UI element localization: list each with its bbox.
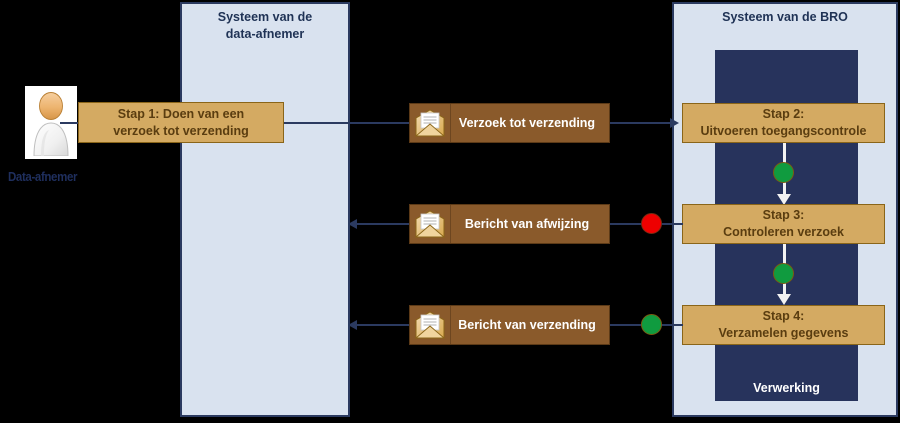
processing-label: Verwerking — [715, 381, 858, 395]
stap-1-box[interactable]: Stap 1: Doen van een verzoek tot verzend… — [78, 102, 284, 143]
connector-request-to-stap2 — [610, 122, 673, 124]
message-bericht-van-verzending[interactable]: Bericht van verzending — [409, 305, 610, 345]
arrow-delivery-to-consumer — [348, 320, 357, 330]
arrow-request-to-stap2 — [670, 118, 679, 128]
connector-stap1-to-request — [284, 122, 409, 124]
stap-4-box[interactable]: Stap 4: Verzamelen gegevens — [682, 305, 885, 345]
message-verzoek-tot-verzending[interactable]: Verzoek tot verzending — [409, 103, 610, 143]
process-diagram: Systeem van de data-afnemer Systeem van … — [0, 0, 900, 423]
stap-2-box[interactable]: Stap 2: Uitvoeren toegangscontrole — [682, 103, 885, 143]
stap-3-box[interactable]: Stap 3: Controleren verzoek — [682, 204, 885, 244]
message-label: Bericht van afwijzing — [451, 217, 609, 231]
lane-title-data-afnemer: Systeem van de data-afnemer — [180, 9, 350, 43]
actor-label: Data-afnemer — [8, 170, 77, 184]
gate-access-ok — [773, 162, 794, 183]
message-label: Bericht van verzending — [451, 318, 609, 332]
message-bericht-van-afwijzing[interactable]: Bericht van afwijzing — [409, 204, 610, 244]
gate-collect-ok — [641, 314, 662, 335]
lane-title-bro: Systeem van de BRO — [672, 9, 898, 26]
envelope-icon — [410, 205, 451, 243]
lane-systeem-data-afnemer — [180, 2, 350, 417]
message-label: Verzoek tot verzending — [451, 116, 609, 130]
gate-check-rejected — [641, 213, 662, 234]
envelope-icon — [410, 306, 451, 344]
gate-check-ok — [773, 263, 794, 284]
connector-rejection-to-consumer — [354, 223, 409, 225]
envelope-icon — [410, 104, 451, 142]
connector-delivery-to-consumer — [354, 324, 409, 326]
arrow-rejection-to-consumer — [348, 219, 357, 229]
flow-arrow-stap3-stap4 — [777, 294, 791, 305]
